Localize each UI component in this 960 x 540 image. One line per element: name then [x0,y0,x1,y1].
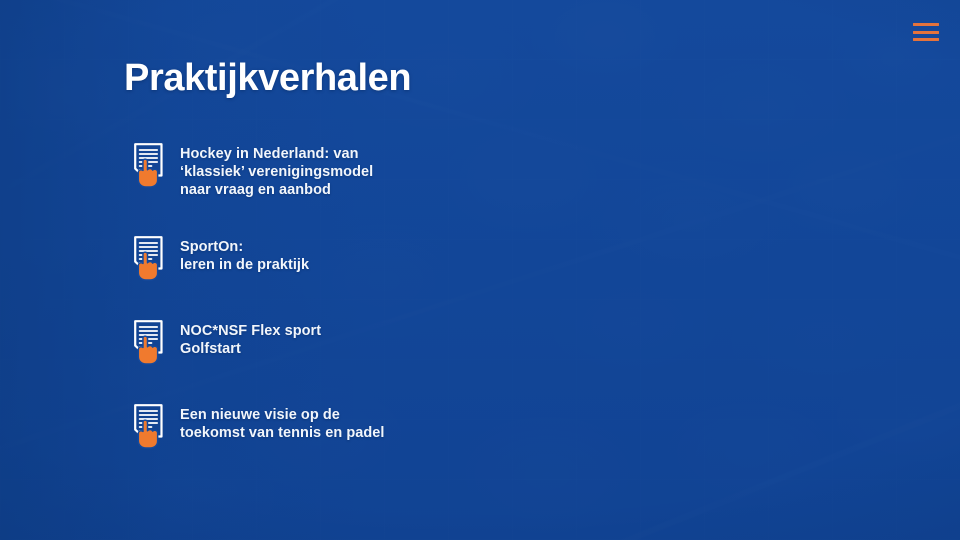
hamburger-bar-top [913,23,939,26]
list-item[interactable]: Een nieuwe visie op de toekomst van tenn… [132,401,552,451]
practice-stories-list: Hockey in Nederland: van ‘klassiek’ vere… [132,140,552,451]
document-click-icon [132,403,166,451]
hamburger-bar-middle [913,31,939,34]
list-item[interactable]: Hockey in Nederland: van ‘klassiek’ vere… [132,140,552,199]
list-item-label: Hockey in Nederland: van ‘klassiek’ vere… [180,140,373,199]
hamburger-menu-icon[interactable] [913,21,939,43]
list-item[interactable]: NOC*NSF Flex sport Golfstart [132,317,552,367]
document-click-icon [132,319,166,367]
page-title: Praktijkverhalen [124,56,411,100]
list-item[interactable]: SportOn: leren in de praktijk [132,233,552,283]
list-item-label: Een nieuwe visie op de toekomst van tenn… [180,401,384,442]
list-item-label: NOC*NSF Flex sport Golfstart [180,317,321,358]
list-item-label: SportOn: leren in de praktijk [180,233,309,274]
hamburger-bar-bottom [913,38,939,41]
slide-canvas: Praktijkverhalen [0,0,960,540]
slide-content: Praktijkverhalen [0,0,960,540]
document-click-icon [132,235,166,283]
document-click-icon [132,142,166,190]
